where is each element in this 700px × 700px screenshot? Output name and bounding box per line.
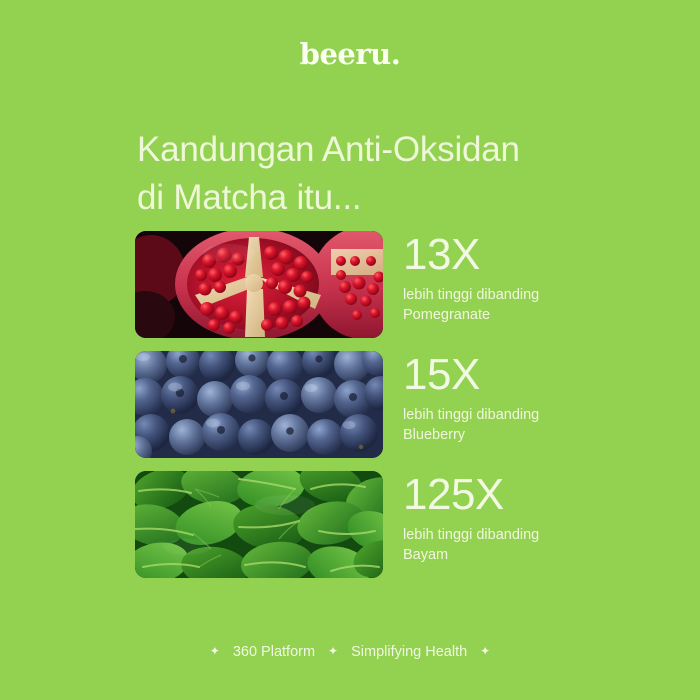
stat-caption: lebih tinggi dibanding Pomegranate — [403, 285, 595, 326]
infographic-poster: beeru. Kandungan Anti-Oksidan di Matcha … — [0, 0, 700, 700]
stat-caption-line-2: Pomegranate — [403, 305, 595, 326]
brand-logo: beeru. — [300, 40, 401, 69]
stat-number: 13X — [403, 233, 595, 278]
headline-line-1: Kandungan Anti-Oksidan — [137, 126, 597, 174]
headline-line-2: di Matcha itu... — [137, 174, 597, 222]
stat-text: 125X lebih tinggi dibanding Bayam — [403, 471, 595, 566]
stat-number: 15X — [403, 353, 595, 398]
sparkle-icon-left: ✦ — [210, 645, 220, 657]
stat-caption-line-1: lebih tinggi dibanding — [403, 285, 595, 306]
stat-text: 15X lebih tinggi dibanding Blueberry — [403, 351, 595, 446]
stat-text: 13X lebih tinggi dibanding Pomegranate — [403, 231, 595, 326]
stat-row: 125X lebih tinggi dibanding Bayam — [135, 471, 595, 578]
stat-list: 13X lebih tinggi dibanding Pomegranate — [135, 231, 595, 591]
stat-row: 13X lebih tinggi dibanding Pomegranate — [135, 231, 595, 338]
sparkle-icon-right: ✦ — [480, 645, 490, 657]
stat-caption-line-2: Bayam — [403, 545, 595, 566]
brand-header: beeru. — [0, 0, 700, 108]
stat-row: 15X lebih tinggi dibanding Blueberry — [135, 351, 595, 458]
footer-item-tagline: Simplifying Health — [351, 644, 467, 660]
stat-caption: lebih tinggi dibanding Blueberry — [403, 405, 595, 446]
footer-item-platform: 360 Platform — [233, 644, 315, 660]
pomegranate-photo — [135, 231, 383, 338]
blueberry-photo — [135, 351, 383, 458]
spinach-photo — [135, 471, 383, 578]
stat-caption: lebih tinggi dibanding Bayam — [403, 525, 595, 566]
stat-caption-line-2: Blueberry — [403, 425, 595, 446]
footer-tagline: ✦ 360 Platform ✦ Simplifying Health ✦ — [0, 644, 700, 660]
sparkle-icon-middle: ✦ — [328, 645, 338, 657]
stat-caption-line-1: lebih tinggi dibanding — [403, 405, 595, 426]
page-title: Kandungan Anti-Oksidan di Matcha itu... — [137, 126, 597, 222]
stat-caption-line-1: lebih tinggi dibanding — [403, 525, 595, 546]
stat-number: 125X — [403, 473, 595, 518]
